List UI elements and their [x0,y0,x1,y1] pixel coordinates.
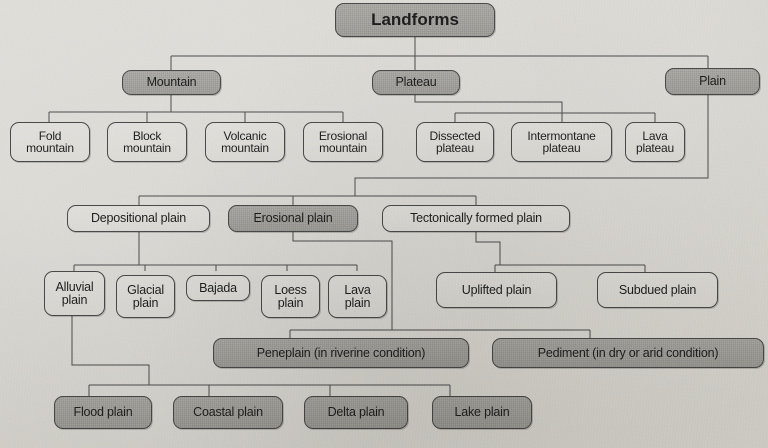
node-coastal-plain[interactable]: Coastal plain [173,396,283,429]
node-label: Pediment (in dry or arid condition) [535,347,722,360]
node-alluvial-plain[interactable]: Alluvial plain [44,271,105,316]
node-label-line2: plain [275,297,306,310]
node-label-line1: Bajada [196,282,240,295]
node-label: Coastal plain [190,406,266,419]
node-label: Peneplain (in riverine condition) [254,347,429,360]
node-label: Mountain [144,76,200,89]
node-label: Plain [696,75,729,88]
node-mountain[interactable]: Mountain [122,70,221,95]
node-erosional-mountain[interactable]: Erosional mountain [303,122,383,162]
node-pediment[interactable]: Pediment (in dry or arid condition) [492,338,764,368]
node-depositional-plain[interactable]: Depositional plain [67,205,210,232]
node-volcanic-mountain[interactable]: Volcanic mountain [205,122,285,162]
node-label-line1: Glacial [124,284,167,297]
node-label: Tectonically formed plain [407,212,545,225]
node-label-line2: plateau [540,142,584,154]
node-label: Landforms [368,11,462,28]
node-lava-plain[interactable]: Lava plain [328,275,387,318]
node-label: Erosional plain [251,212,336,225]
node-label: Depositional plain [88,212,189,225]
node-label-line1: Loess [271,284,309,297]
node-label: Flood plain [71,406,136,419]
node-block-mountain[interactable]: Block mountain [107,122,187,162]
node-label-line2: mountain [120,142,174,154]
node-label: Lake plain [452,406,513,419]
node-loess-plain[interactable]: Loess plain [261,275,320,318]
node-fold-mountain[interactable]: Fold mountain [10,122,90,162]
node-plateau[interactable]: Plateau [372,70,460,95]
node-lake-plain[interactable]: Lake plain [432,396,532,429]
node-delta-plain[interactable]: Delta plain [304,396,408,429]
node-lava-plateau[interactable]: Lava plateau [625,122,685,162]
node-label-line2: plateau [633,142,677,154]
node-label: Subdued plain [616,284,699,297]
node-label-line2: plain [130,297,161,310]
node-erosional-plain[interactable]: Erosional plain [228,205,358,232]
node-peneplain[interactable]: Peneplain (in riverine condition) [213,338,469,368]
node-bajada[interactable]: Bajada [186,275,250,301]
node-intermontane-plateau[interactable]: Intermontane plateau [511,122,612,162]
node-label: Uplifted plain [459,284,534,297]
node-label-line1: Lava [341,284,373,297]
node-label-line2: mountain [316,142,370,154]
node-label-line2: mountain [218,142,272,154]
node-label-line1: Alluvial [53,281,97,294]
node-flood-plain[interactable]: Flood plain [54,396,152,429]
node-tectonically-formed-plain[interactable]: Tectonically formed plain [382,205,570,232]
node-uplifted-plain[interactable]: Uplifted plain [436,272,557,308]
node-label-line2: plain [342,297,373,310]
node-label-line2: mountain [23,142,77,154]
node-label: Delta plain [325,406,388,419]
node-label: Plateau [393,76,440,89]
node-label-line2: plain [59,294,90,307]
node-plain[interactable]: Plain [665,68,760,95]
node-landforms[interactable]: Landforms [335,3,495,37]
node-label-line2: plateau [433,142,477,154]
node-glacial-plain[interactable]: Glacial plain [116,275,175,318]
node-subdued-plain[interactable]: Subdued plain [597,272,718,308]
node-dissected-plateau[interactable]: Dissected plateau [416,122,494,162]
